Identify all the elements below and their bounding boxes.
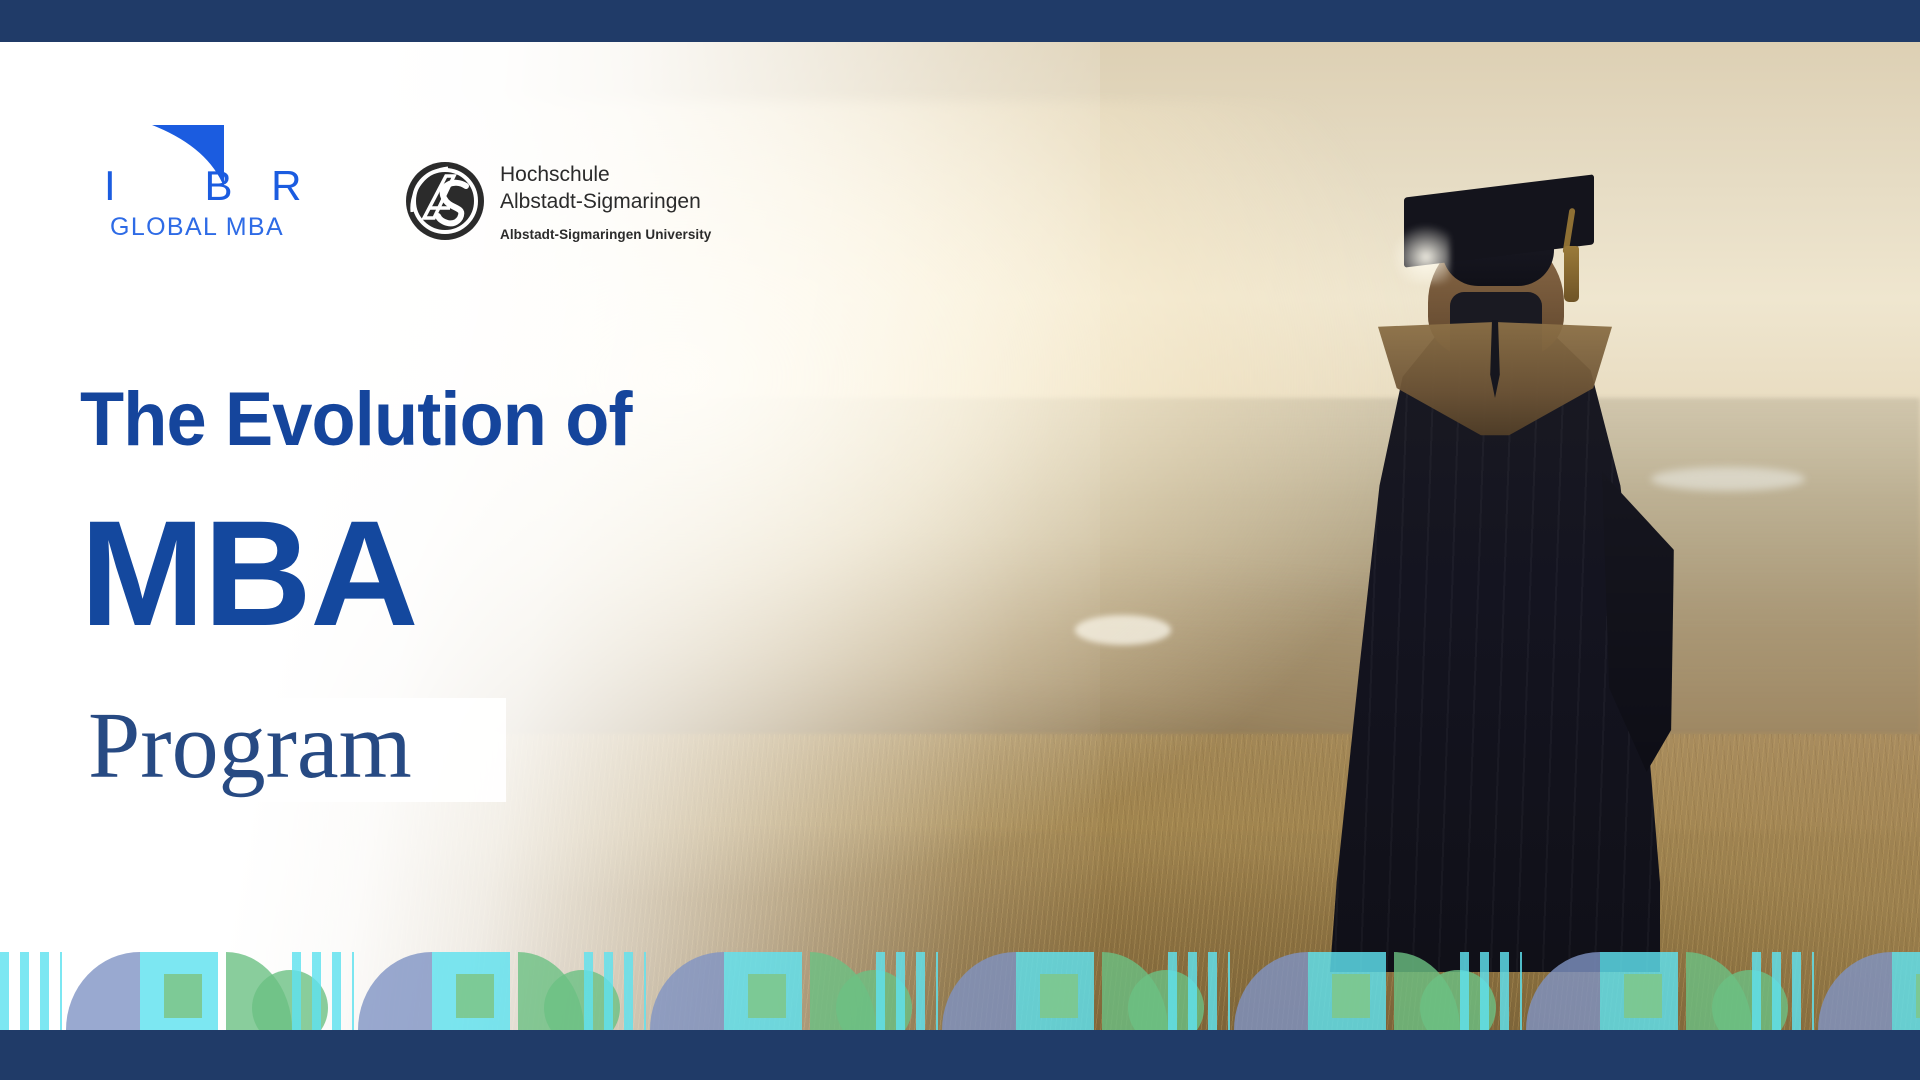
pattern-module xyxy=(1752,952,1920,1030)
pattern-quarter-circle xyxy=(650,952,724,1030)
pattern-inner-square xyxy=(1332,974,1370,1018)
distant-water xyxy=(1651,467,1805,491)
pattern-quarter-circle xyxy=(358,952,432,1030)
pattern-stripes xyxy=(876,952,938,1030)
ibr-letters: I B R xyxy=(104,165,304,207)
pattern-stripes xyxy=(584,952,646,1030)
title-slide: I B R GLOBAL MBA xyxy=(0,0,1920,1080)
pattern-quarter-circle xyxy=(66,952,140,1030)
pattern-inner-square xyxy=(164,974,202,1018)
title-line-3-program: Program xyxy=(88,692,412,800)
graduate-figure xyxy=(1330,172,1660,972)
pattern-inner-square xyxy=(1624,974,1662,1018)
pattern-stripes xyxy=(1168,952,1230,1030)
title-line-2-mba: MBA xyxy=(80,498,417,648)
ibr-lettermark: I B R xyxy=(104,125,304,203)
pattern-stripes xyxy=(292,952,354,1030)
hochschule-line-3: Albstadt-Sigmaringen University xyxy=(500,227,711,242)
ibr-letter-b: B xyxy=(205,165,236,207)
pattern-module xyxy=(876,952,1168,1030)
ibr-letter-i: I xyxy=(104,165,118,207)
pattern-module xyxy=(1168,952,1460,1030)
top-accent-bar xyxy=(0,0,1920,42)
hochschule-text: Hochschule Albstadt-Sigmaringen Albstadt… xyxy=(500,162,711,242)
ibr-letter-r: R xyxy=(271,165,304,207)
tassel-icon xyxy=(1564,246,1579,302)
pattern-quarter-circle xyxy=(942,952,1016,1030)
pattern-stripes xyxy=(0,952,62,1030)
pattern-inner-square xyxy=(456,974,494,1018)
pattern-inner-square xyxy=(748,974,786,1018)
pattern-module xyxy=(584,952,876,1030)
pattern-quarter-circle xyxy=(1526,952,1600,1030)
pattern-quarter-circle xyxy=(1234,952,1308,1030)
pattern-module xyxy=(0,952,292,1030)
title-line-1: The Evolution of xyxy=(80,382,632,458)
pattern-stripes xyxy=(1752,952,1814,1030)
ibr-wordmark: GLOBAL MBA xyxy=(110,213,284,242)
pattern-quarter-circle xyxy=(1818,952,1892,1030)
hochschule-logo[interactable]: Hochschule Albstadt-Sigmaringen Albstadt… xyxy=(404,160,704,248)
hochschule-line-1: Hochschule xyxy=(500,162,711,189)
hochschule-line-2: Albstadt-Sigmaringen xyxy=(500,189,711,216)
rim-light xyxy=(1390,224,1450,284)
pattern-inner-square xyxy=(1916,974,1920,1018)
bottom-accent-bar xyxy=(0,1030,1920,1080)
ibr-global-mba-logo[interactable]: I B R GLOBAL MBA xyxy=(104,125,304,240)
pattern-module xyxy=(1460,952,1752,1030)
pattern-stripes xyxy=(1460,952,1522,1030)
pattern-inner-square xyxy=(1040,974,1078,1018)
as-monogram-circle-icon xyxy=(404,160,486,242)
pattern-module xyxy=(292,952,584,1030)
decorative-geometric-band xyxy=(0,952,1920,1030)
